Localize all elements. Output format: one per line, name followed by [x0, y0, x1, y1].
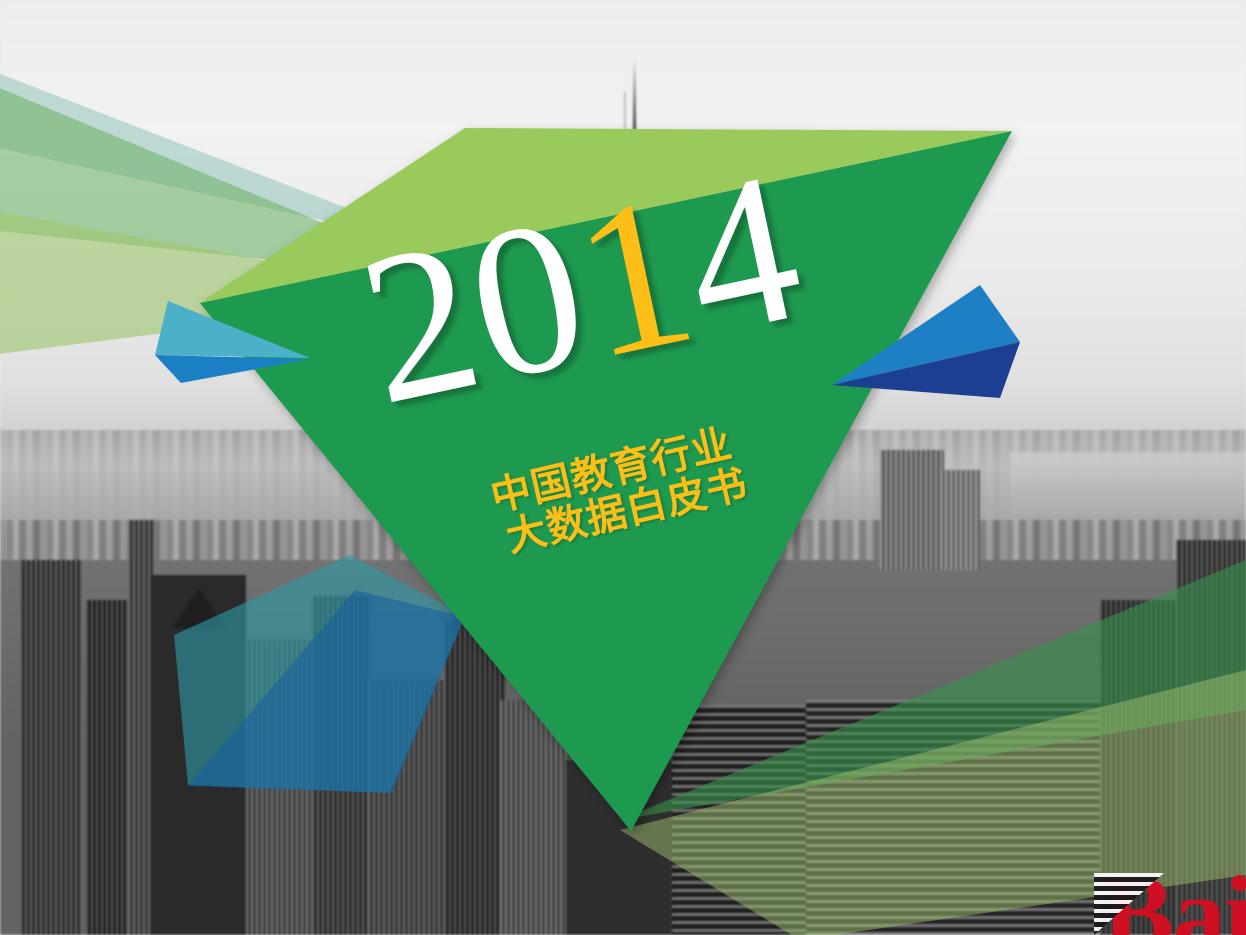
slide-canvas: 2014 中国教育行业 大数据白皮书 Bai [0, 0, 1246, 935]
